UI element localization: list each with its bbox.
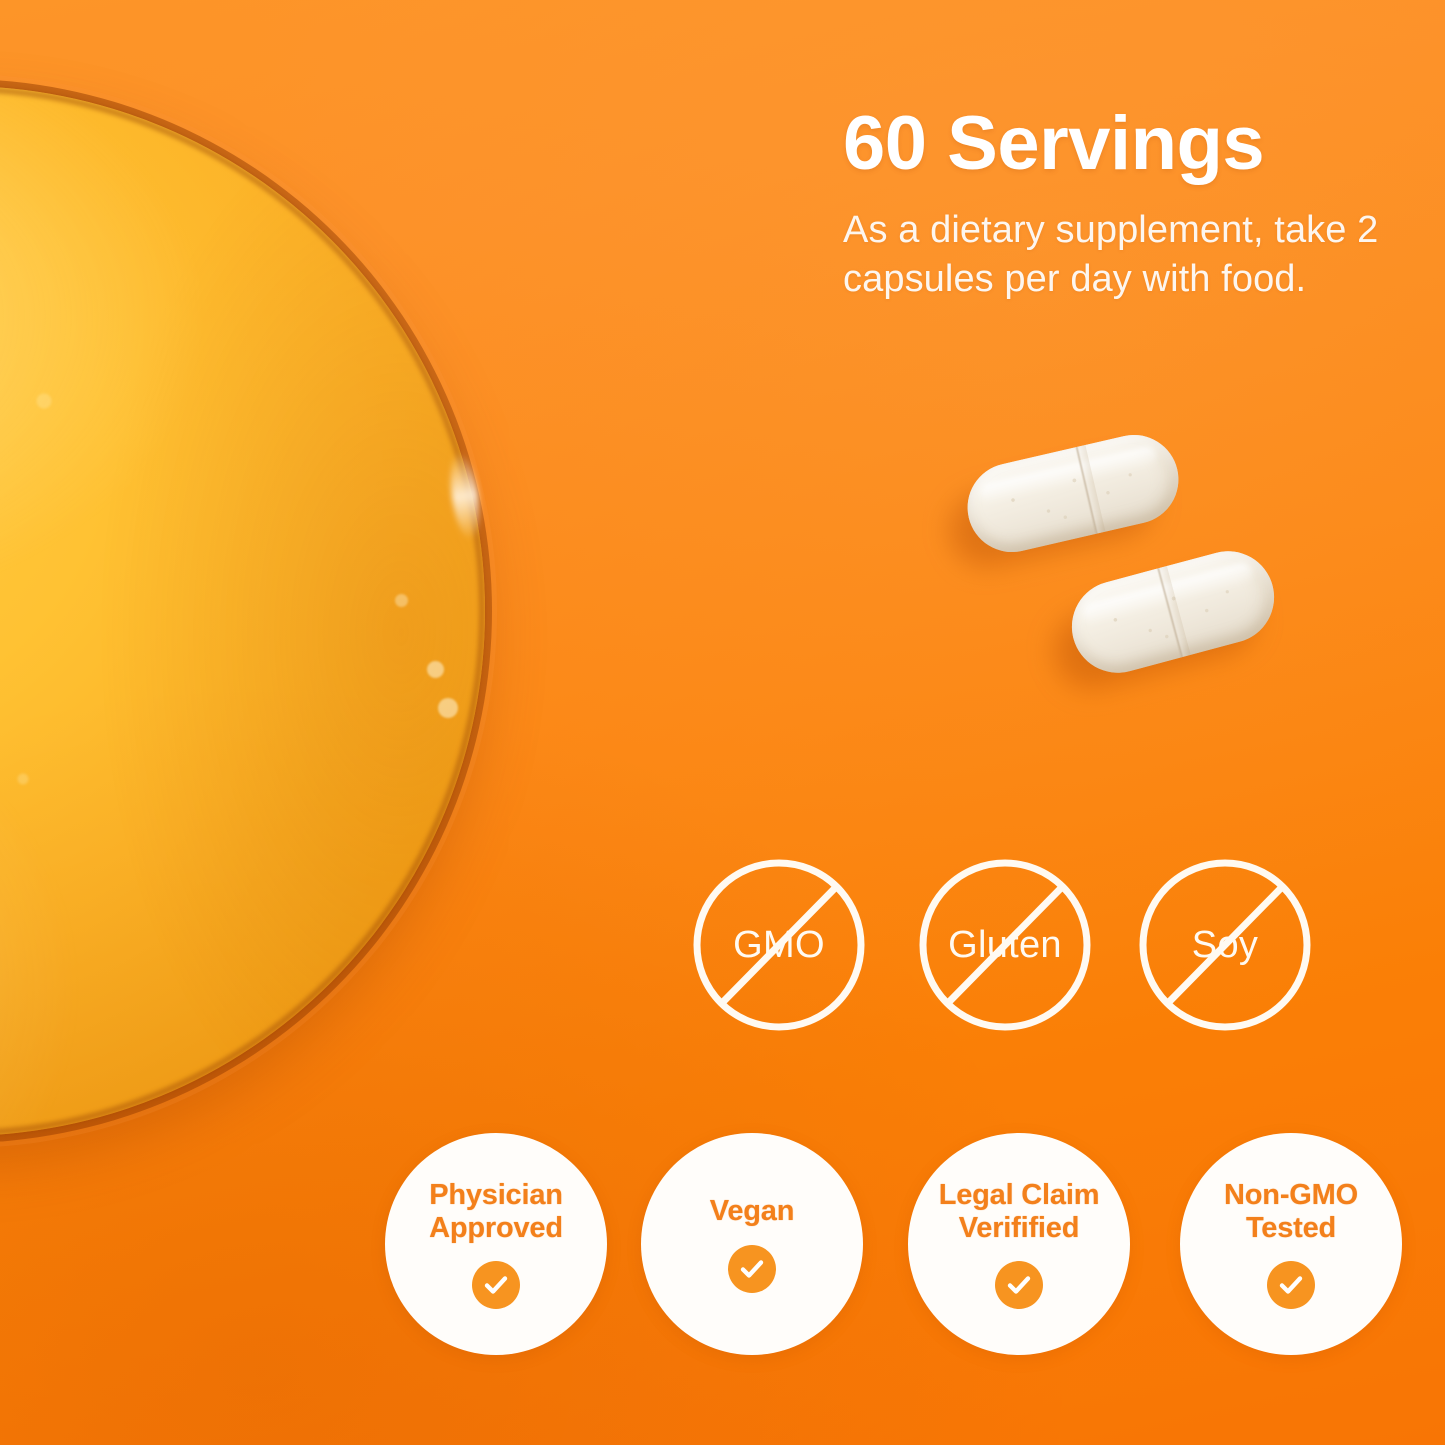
free-from-gluten: Gluten — [917, 857, 1093, 1033]
seal-label-line2: Verifified — [939, 1212, 1100, 1245]
juice-bubble — [395, 594, 408, 607]
headline-block: 60 Servings As a dietary supplement, tak… — [843, 106, 1383, 303]
orange-juice-glass — [0, 86, 485, 1136]
seal-label-line1: Physician — [429, 1179, 563, 1212]
juice-bubble — [427, 661, 444, 678]
product-marketing-image: 60 Servings As a dietary supplement, tak… — [0, 0, 1445, 1445]
no-symbol-icon — [691, 857, 867, 1033]
seal-label-line1: Legal Claim — [939, 1179, 1100, 1212]
seal-non-gmo-tested: Non-GMO Tested — [1180, 1133, 1402, 1355]
seal-label-line1: Non-GMO — [1224, 1179, 1358, 1212]
seal-label: Physician Approved — [419, 1179, 573, 1245]
free-from-soy: Soy — [1137, 857, 1313, 1033]
seal-label-line2: Approved — [429, 1212, 563, 1245]
no-symbol-icon — [917, 857, 1093, 1033]
servings-title: 60 Servings — [843, 106, 1383, 182]
check-circle-icon — [728, 1245, 776, 1293]
seal-legal-claim-verified: Legal Claim Verifified — [908, 1133, 1130, 1355]
seal-vegan: Vegan — [641, 1133, 863, 1355]
no-symbol-icon — [1137, 857, 1313, 1033]
seal-label-line1: Vegan — [710, 1195, 794, 1228]
free-from-gmo: GMO — [691, 857, 867, 1033]
seal-label: Legal Claim Verifified — [929, 1179, 1110, 1245]
seal-label: Vegan — [700, 1195, 804, 1228]
check-circle-icon — [472, 1261, 520, 1309]
check-circle-icon — [995, 1261, 1043, 1309]
seal-label: Non-GMO Tested — [1214, 1179, 1368, 1245]
juice-bubble — [438, 698, 458, 718]
glass-rim — [0, 86, 485, 1136]
check-circle-icon — [1267, 1261, 1315, 1309]
seal-physician-approved: Physician Approved — [385, 1133, 607, 1355]
seal-label-line2: Tested — [1224, 1212, 1358, 1245]
directions-text: As a dietary supplement, take 2 capsules… — [843, 206, 1383, 303]
